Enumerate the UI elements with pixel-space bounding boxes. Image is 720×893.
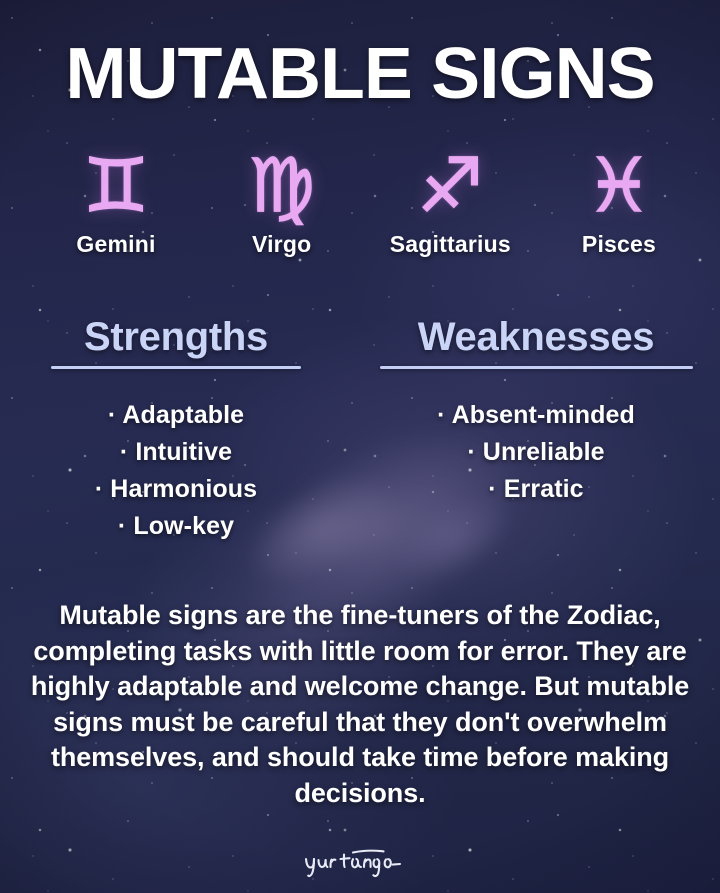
sign-label-gemini: Gemini — [76, 231, 155, 257]
sign-item-pisces: ♓ Pisces — [544, 143, 694, 257]
strengths-underline — [51, 366, 301, 369]
strengths-column: Strengths · Adaptable · Intuitive · Harm… — [0, 314, 352, 545]
weaknesses-underline — [380, 366, 693, 369]
virgo-glyph: ♍ — [248, 143, 314, 229]
weaknesses-heading: Weaknesses — [418, 314, 654, 361]
list-item: · Absent-minded — [437, 397, 635, 434]
poster-canvas: MUTABLE SIGNS ♊ Gemini ♍ Virgo ♐ Sagitta… — [0, 0, 720, 893]
list-item: · Intuitive — [95, 434, 257, 471]
description-paragraph: Mutable signs are the fine-tuners of the… — [18, 598, 702, 811]
list-item: · Erratic — [437, 471, 635, 508]
yourtango-logo-label: YourTango — [420, 845, 421, 846]
strengths-list: · Adaptable · Intuitive · Harmonious · L… — [95, 397, 257, 545]
strengths-heading: Strengths — [84, 314, 268, 361]
gemini-glyph: ♊ — [83, 143, 149, 229]
list-item: · Unreliable — [437, 434, 635, 471]
weaknesses-column: Weaknesses · Absent-minded · Unreliable … — [352, 314, 720, 545]
list-item: · Low-key — [95, 508, 257, 545]
yourtango-logo: YourTango — [0, 845, 720, 884]
zodiac-sign-row: ♊ Gemini ♍ Virgo ♐ Sagittarius ♓ Pisces — [26, 143, 694, 257]
sign-label-sagittarius: Sagittarius — [390, 231, 511, 257]
list-item: · Adaptable — [95, 397, 257, 434]
page-title: MUTABLE SIGNS — [0, 35, 720, 113]
weaknesses-list: · Absent-minded · Unreliable · Erratic — [437, 397, 635, 508]
list-item: · Harmonious — [95, 471, 257, 508]
sign-item-sagittarius: ♐ Sagittarius — [357, 143, 543, 257]
sign-item-virgo: ♍ Virgo — [207, 143, 357, 257]
traits-columns: Strengths · Adaptable · Intuitive · Harm… — [0, 314, 720, 545]
sign-item-gemini: ♊ Gemini — [26, 143, 206, 257]
sign-label-virgo: Virgo — [252, 231, 311, 257]
poster-content: MUTABLE SIGNS ♊ Gemini ♍ Virgo ♐ Sagitta… — [0, 0, 720, 893]
pisces-glyph: ♓ — [586, 143, 652, 229]
yourtango-logo-icon — [300, 845, 420, 879]
sagittarius-glyph: ♐ — [417, 143, 483, 229]
sign-label-pisces: Pisces — [582, 231, 656, 257]
